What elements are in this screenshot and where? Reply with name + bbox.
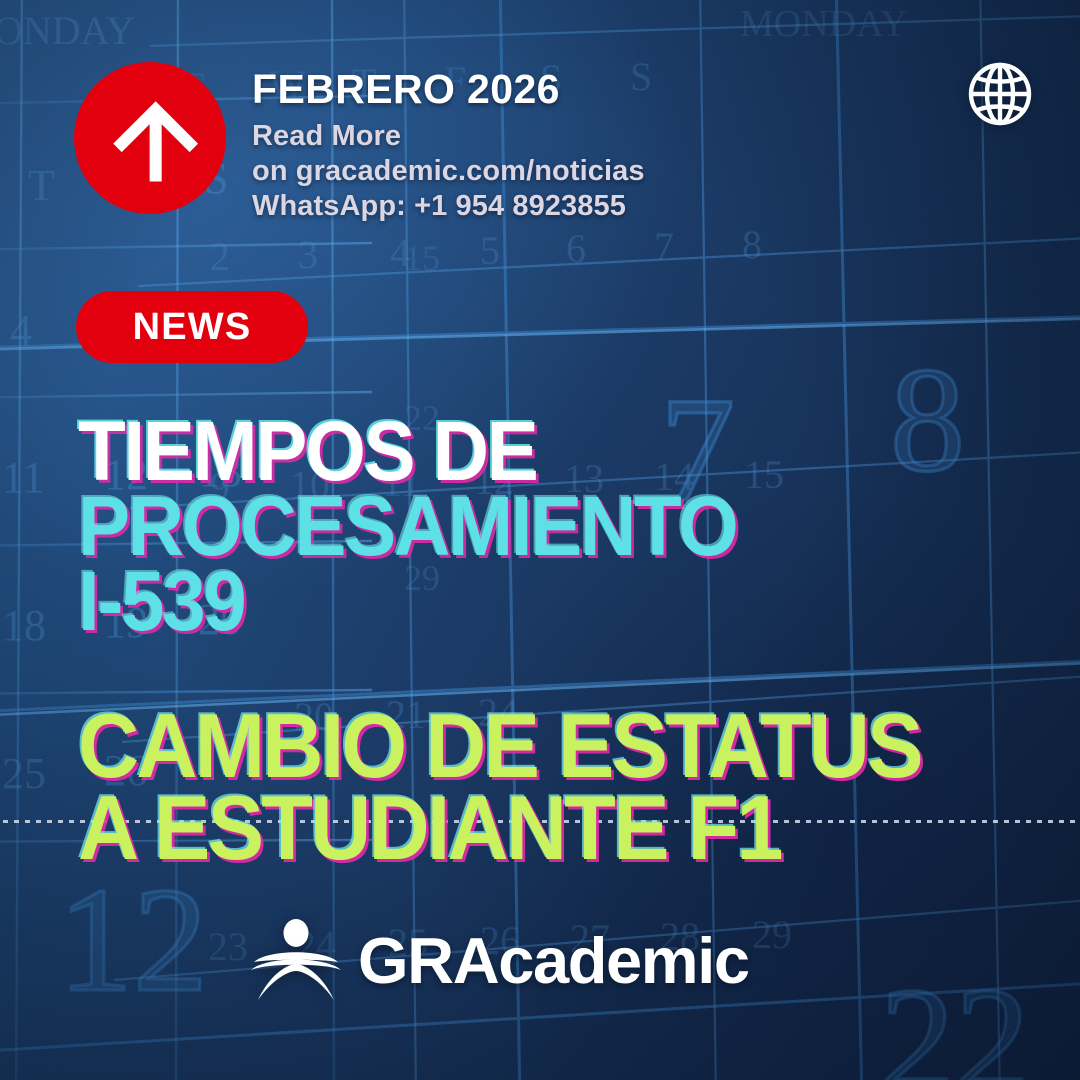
news-badge[interactable]: NEWS (76, 291, 308, 363)
read-more-arrow-button[interactable] (74, 62, 226, 214)
brand-logo[interactable]: GRAcademic (248, 918, 749, 1002)
cta-line-1: Read More (252, 119, 812, 154)
brand-wordmark: GRAcademic (358, 928, 749, 993)
subheadline-block: CAMBIO DE ESTATUS A ESTUDIANTE F1 (78, 706, 1058, 870)
arrow-up-right-icon (102, 90, 198, 186)
news-badge-label: NEWS (133, 306, 252, 349)
social-news-card: T F S 4 5 11 12 13 18 19 20 25 26 ONDAY (0, 0, 1080, 1080)
month-label: FEBRERO 2026 (252, 68, 812, 111)
header-text-block: FEBRERO 2026 Read More on gracademic.com… (252, 68, 812, 224)
subheadline-line-1: CAMBIO DE ESTATUS (78, 706, 989, 788)
headline-line-1: TIEMPOS DE (78, 414, 971, 489)
subheadline-line-2: A ESTUDIANTE F1 (78, 788, 989, 870)
cta-line-3: WhatsApp: +1 954 8923855 (252, 189, 812, 224)
graduate-figure-icon (248, 918, 344, 1002)
globe-icon[interactable] (964, 58, 1036, 130)
headline-line-3: I-539 (78, 564, 971, 639)
cta-line-2: on gracademic.com/noticias (252, 154, 812, 189)
headline-block: TIEMPOS DE PROCESAMIENTO I-539 (78, 414, 1038, 638)
headline-line-2: PROCESAMIENTO (78, 489, 971, 564)
